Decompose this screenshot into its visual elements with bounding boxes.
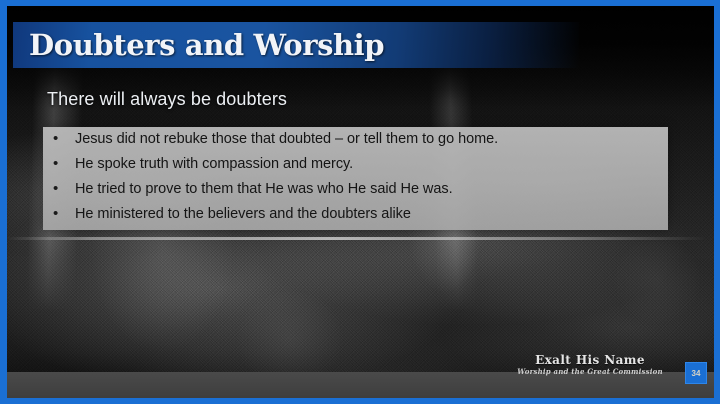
footer-brand: Exalt His Name Worship and the Great Com… — [510, 354, 670, 376]
list-item: • He ministered to the believers and the… — [43, 206, 668, 231]
list-item: • Jesus did not rebuke those that doubte… — [43, 131, 668, 156]
bullet-icon: • — [53, 206, 75, 221]
slide-subtitle: There will always be doubters — [47, 89, 287, 110]
list-item: • He spoke truth with compassion and mer… — [43, 156, 668, 181]
bullet-panel: • Jesus did not rebuke those that doubte… — [43, 127, 668, 230]
background-chalk-line — [7, 237, 714, 240]
footer-brand-subtitle: Worship and the Great Commission — [510, 367, 670, 376]
list-item-label: He tried to prove to them that He was wh… — [75, 181, 453, 197]
bullet-icon: • — [53, 131, 75, 146]
bullet-icon: • — [53, 181, 75, 196]
page-number-badge: 34 — [685, 362, 707, 384]
list-item-label: Jesus did not rebuke those that doubted … — [75, 131, 498, 147]
slide-canvas: Doubters and Worship There will always b… — [7, 6, 714, 398]
list-item-label: He ministered to the believers and the d… — [75, 206, 411, 222]
slide-title: Doubters and Worship — [29, 28, 384, 62]
footer-brand-title: Exalt His Name — [510, 354, 670, 367]
bullet-icon: • — [53, 156, 75, 171]
list-item: • He tried to prove to them that He was … — [43, 181, 668, 206]
slide-frame: Doubters and Worship There will always b… — [0, 0, 720, 404]
list-item-label: He spoke truth with compassion and mercy… — [75, 156, 353, 172]
